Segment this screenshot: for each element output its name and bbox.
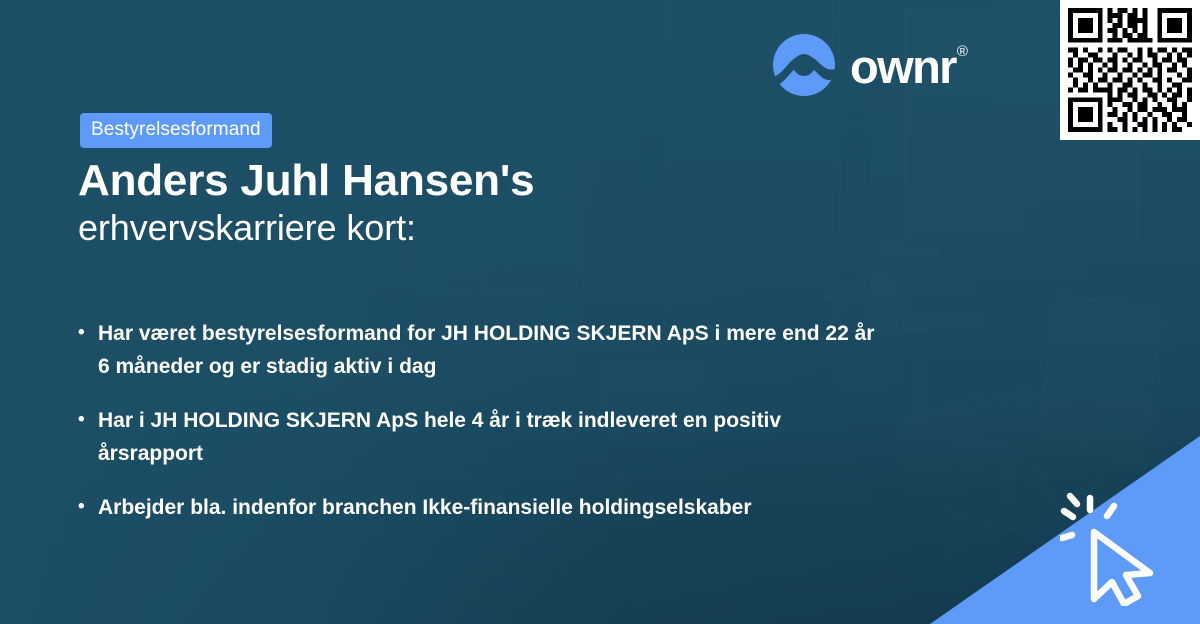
bullet-dot-icon: • bbox=[78, 405, 98, 434]
bullet-dot-icon: • bbox=[78, 492, 98, 521]
qr-code-icon bbox=[1068, 8, 1192, 132]
page-title-name: Anders Juhl Hansen's bbox=[78, 156, 978, 205]
list-item-text: Har været bestyrelsesformand for JH HOLD… bbox=[98, 318, 888, 383]
list-item: • Arbejder bla. indenfor branchen Ikke-f… bbox=[78, 492, 1078, 525]
ownr-wordmark: ownr® bbox=[850, 43, 967, 90]
ownr-wordmark-text: ownr bbox=[850, 40, 956, 93]
list-item: • Har i JH HOLDING SKJERN ApS hele 4 år … bbox=[78, 405, 1078, 470]
ownr-circle-swoosh-icon bbox=[772, 33, 836, 97]
bullet-dot-icon: • bbox=[78, 318, 98, 347]
list-item: • Har været bestyrelsesformand for JH HO… bbox=[78, 318, 1078, 383]
role-badge: Bestyrelsesformand bbox=[80, 113, 272, 148]
ownr-logo: ownr® bbox=[772, 33, 967, 97]
mouse-cursor-click-icon bbox=[1060, 486, 1180, 606]
qr-code[interactable] bbox=[1060, 0, 1200, 140]
list-item-text: Arbejder bla. indenfor branchen Ikke-fin… bbox=[98, 492, 888, 525]
page-title-subtitle: erhvervskarriere kort: bbox=[78, 207, 978, 249]
career-highlights-list: • Har været bestyrelsesformand for JH HO… bbox=[78, 318, 1078, 547]
profile-card: ownr® bbox=[0, 0, 1200, 624]
list-item-text: Har i JH HOLDING SKJERN ApS hele 4 år i … bbox=[98, 405, 888, 470]
page-title: Anders Juhl Hansen's erhvervskarriere ko… bbox=[78, 156, 978, 250]
registered-trademark-icon: ® bbox=[957, 43, 968, 60]
